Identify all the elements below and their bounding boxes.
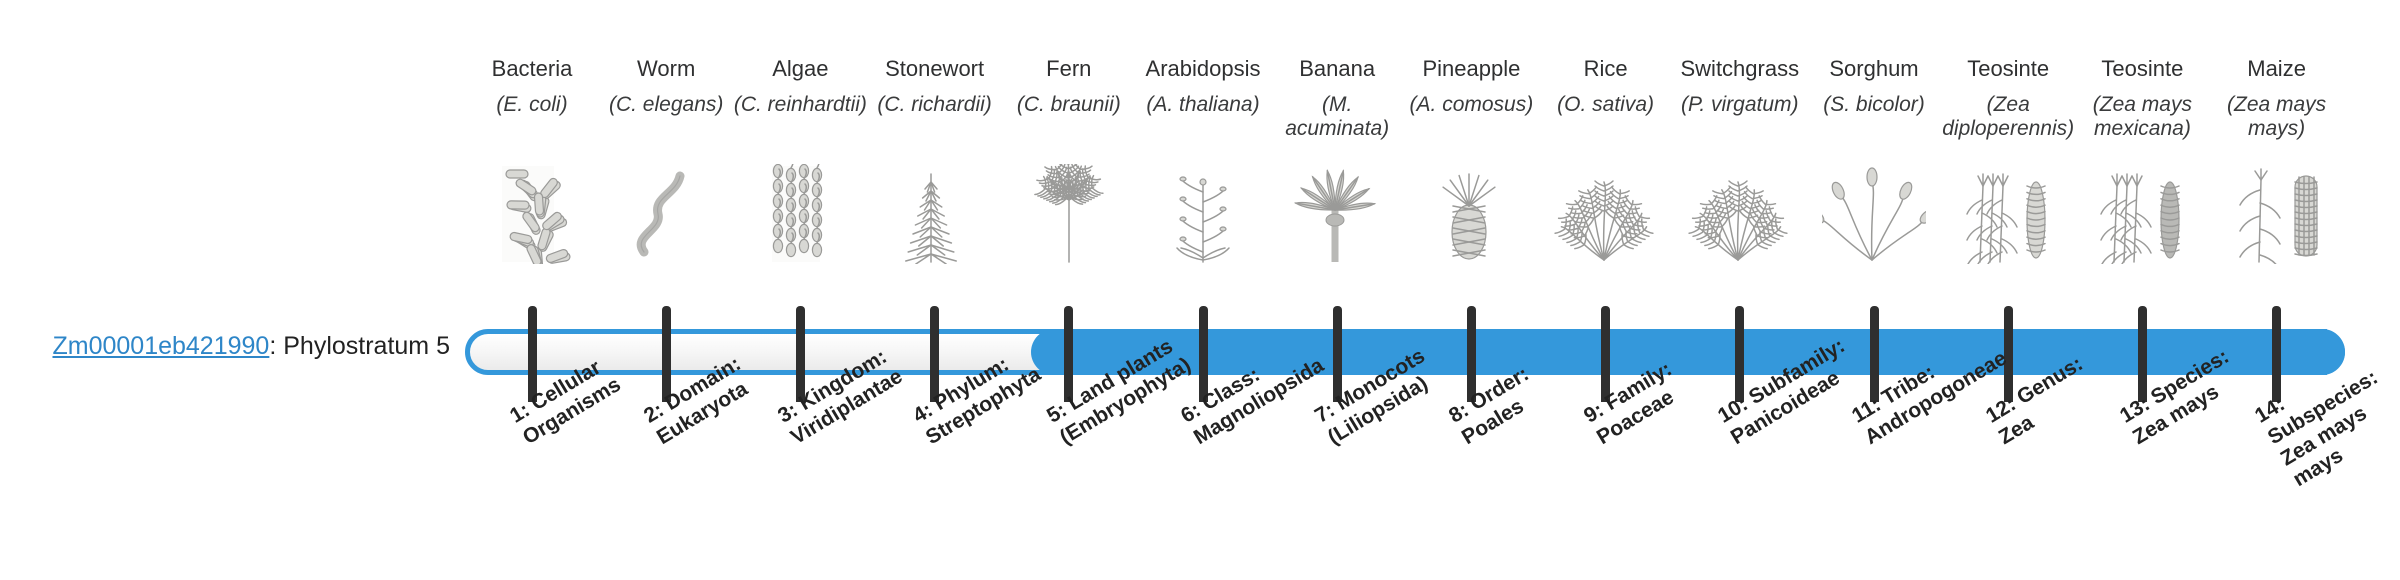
sorghum-illustration [1807, 164, 1941, 264]
species-common-name: Bacteria [465, 56, 599, 81]
species-common-name: Rice [1539, 56, 1673, 81]
species-common-name: Maize [2210, 56, 2344, 81]
level-tick-3 [796, 306, 805, 402]
species-common-name: Banana [1270, 56, 1404, 81]
species-column-stonewort-4: Stonewort(C. richardii) [868, 56, 1002, 117]
species-column-arabidopsis-6: Arabidopsis(A. thaliana) [1136, 56, 1270, 117]
level-tick-2 [662, 306, 671, 402]
gene-phylostratum-label: Zm00001eb421990: Phylostratum 5 [0, 334, 450, 359]
level-tick-10 [1735, 306, 1744, 402]
species-latin-name: (Zea mays mexicana) [2075, 93, 2209, 141]
species-common-name: Sorghum [1807, 56, 1941, 81]
species-column-rice-9: Rice(O. sativa) [1539, 56, 1673, 117]
level-tick-11 [1870, 306, 1879, 402]
species-column-sorghum-11: Sorghum(S. bicolor) [1807, 56, 1941, 117]
species-column-algae-3: Algae(C. reinhardtii) [733, 56, 867, 117]
level-tick-4 [930, 306, 939, 402]
worm-illustration [599, 164, 733, 264]
species-latin-name: (A. thaliana) [1136, 93, 1270, 117]
level-tick-13 [2138, 306, 2147, 402]
species-latin-name: (C. braunii) [1002, 93, 1136, 117]
species-latin-name: (Zea mays mays) [2210, 93, 2344, 141]
level-tick-1 [528, 306, 537, 402]
gene-id-link[interactable]: Zm00001eb421990 [52, 332, 269, 360]
teosinte-mexicana-illustration [2075, 164, 2209, 264]
species-column-fern-5: Fern(C. braunii) [1002, 56, 1136, 117]
species-common-name: Teosinte [2075, 56, 2209, 81]
level-tick-6 [1199, 306, 1208, 402]
species-common-name: Pineapple [1404, 56, 1538, 81]
level-tick-8 [1467, 306, 1476, 402]
species-latin-name: (C. elegans) [599, 93, 733, 117]
rice-illustration [1539, 164, 1673, 264]
banana-illustration [1270, 164, 1404, 264]
maize-illustration [2210, 164, 2344, 264]
species-latin-name: (C. reinhardtii) [733, 93, 867, 117]
species-latin-name: (E. coli) [465, 93, 599, 117]
fern-illustration [1002, 164, 1136, 264]
species-column-banana-7: Banana(M. acuminata) [1270, 56, 1404, 141]
species-column-bacteria-1: Bacteria(E. coli) [465, 56, 599, 117]
level-tick-5 [1064, 306, 1073, 402]
teosinte-diploperennis-illustration [1941, 164, 2075, 264]
phylostratum-value-label: Phylostratum 5 [283, 332, 450, 360]
species-column-pineapple-8: Pineapple(A. comosus) [1404, 56, 1538, 117]
bacteria-illustration [465, 164, 599, 264]
species-latin-name: (A. comosus) [1404, 93, 1538, 117]
species-latin-name: (S. bicolor) [1807, 93, 1941, 117]
arabidopsis-illustration [1136, 164, 1270, 264]
level-tick-9 [1601, 306, 1610, 402]
species-column-teosinte-12: Teosinte(Zea diploperennis) [1941, 56, 2075, 141]
species-common-name: Worm [599, 56, 733, 81]
level-tick-12 [2004, 306, 2013, 402]
stonewort-illustration [868, 164, 1002, 264]
level-tick-14 [2272, 306, 2281, 402]
taxonomy-level-labels: 1: Cellular Organisms2: Domain: Eukaryot… [465, 402, 2345, 580]
gene-label-separator: : [269, 332, 283, 360]
species-column-switchgrass-10: Switchgrass(P. virgatum) [1673, 56, 1807, 117]
species-column-worm-2: Worm(C. elegans) [599, 56, 733, 117]
level-tick-7 [1333, 306, 1342, 402]
algae-illustration [733, 164, 867, 264]
species-column-headers: Bacteria(E. coli)Worm(C. elegans)Algae(C… [465, 56, 2340, 306]
species-latin-name: (P. virgatum) [1673, 93, 1807, 117]
phylostratum-figure: Zm00001eb421990: Phylostratum 5 Bacteria… [0, 0, 2400, 580]
pineapple-illustration [1404, 164, 1538, 264]
species-column-maize-14: Maize(Zea mays mays) [2210, 56, 2344, 141]
species-latin-name: (C. richardii) [868, 93, 1002, 117]
species-latin-name: (M. acuminata) [1270, 93, 1404, 141]
species-common-name: Teosinte [1941, 56, 2075, 81]
switchgrass-illustration [1673, 164, 1807, 264]
species-common-name: Switchgrass [1673, 56, 1807, 81]
species-latin-name: (Zea diploperennis) [1941, 93, 2075, 141]
species-column-teosinte-13: Teosinte(Zea mays mexicana) [2075, 56, 2209, 141]
species-latin-name: (O. sativa) [1539, 93, 1673, 117]
species-common-name: Stonewort [868, 56, 1002, 81]
species-common-name: Algae [733, 56, 867, 81]
species-common-name: Fern [1002, 56, 1136, 81]
species-common-name: Arabidopsis [1136, 56, 1270, 81]
